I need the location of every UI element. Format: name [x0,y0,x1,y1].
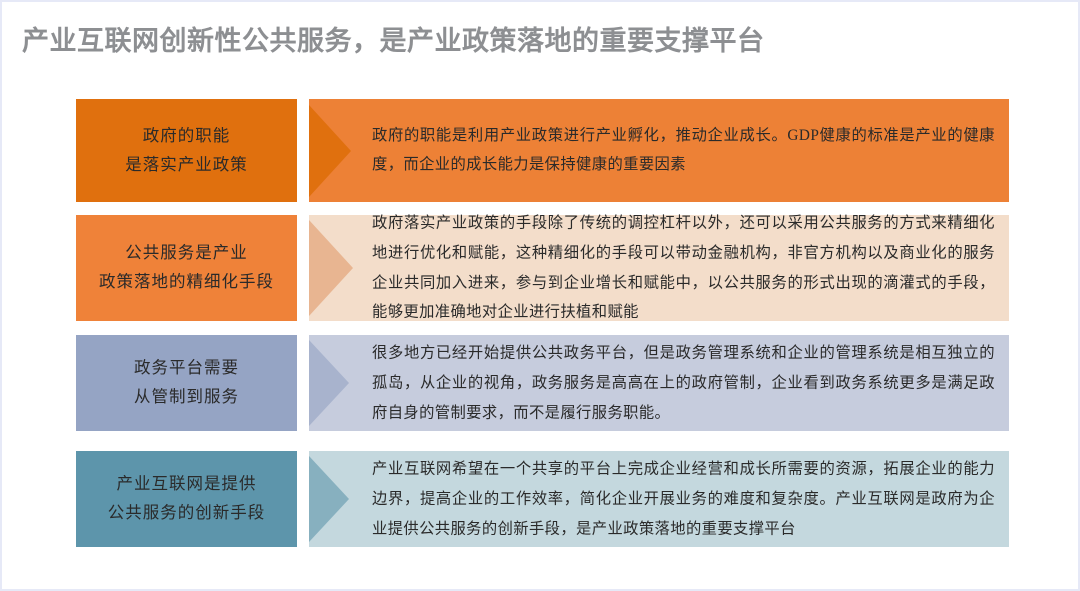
row-4-body-block: 产业互联网希望在一个共享的平台上完成企业经营和成长所需要的资源，拓展企业的能力边… [309,451,1009,547]
row-3-label-text: 政务平台需要 从管制到服务 [124,354,249,412]
row-3-body-text: 很多地方已经开始提供公共政务平台，但是政务管理系统和企业的管理系统是相互独立的孤… [372,338,995,427]
page-title: 产业互联网创新性公共服务，是产业政策落地的重要支撑平台 [22,20,1022,62]
arrow-right-icon [309,105,351,197]
row-2-body-block: 政府落实产业政策的手段除了传统的调控杠杆以外，还可以采用公共服务的方式来精细化地… [309,215,1009,321]
row-2-label-text: 公共服务是产业 政策落地的精细化手段 [89,239,284,297]
row-4-label-block: 产业互联网是提供 公共服务的创新手段 [76,451,297,547]
process-row-4: 产业互联网是提供 公共服务的创新手段 产业互联网希望在一个共享的平台上完成企业经… [76,451,1009,547]
row-3-body-block: 很多地方已经开始提供公共政务平台，但是政务管理系统和企业的管理系统是相互独立的孤… [309,335,1009,431]
row-1-label-text: 政府的职能 是落实产业政策 [115,122,258,180]
row-1-body-block: 政府的职能是利用产业政策进行产业孵化，推动企业成长。GDP健康的标准是产业的健康… [309,99,1009,202]
row-2-label-block: 公共服务是产业 政策落地的精细化手段 [76,215,297,321]
row-1-body-text: 政府的职能是利用产业政策进行产业孵化，推动企业成长。GDP健康的标准是产业的健康… [372,121,995,181]
row-4-label-text: 产业互联网是提供 公共服务的创新手段 [98,470,276,528]
slide-canvas: 产业互联网创新性公共服务，是产业政策落地的重要支撑平台 政府的职能 是落实产业政… [0,0,1080,591]
row-4-body-text: 产业互联网希望在一个共享的平台上完成企业经营和成长所需要的资源，拓展企业的能力边… [372,454,995,543]
arrow-right-icon [309,456,349,542]
process-row-1: 政府的职能 是落实产业政策 政府的职能是利用产业政策进行产业孵化，推动企业成长。… [76,99,1009,202]
row-3-label-block: 政务平台需要 从管制到服务 [76,335,297,431]
process-row-2: 公共服务是产业 政策落地的精细化手段 政府落实产业政策的手段除了传统的调控杠杆以… [76,215,1009,321]
row-1-label-block: 政府的职能 是落实产业政策 [76,99,297,202]
row-2-body-text: 政府落实产业政策的手段除了传统的调控杠杆以外，还可以采用公共服务的方式来精细化地… [372,208,995,327]
process-row-3: 政务平台需要 从管制到服务 很多地方已经开始提供公共政务平台，但是政务管理系统和… [76,335,1009,431]
arrow-right-icon [309,340,349,426]
arrow-right-icon [309,220,353,316]
